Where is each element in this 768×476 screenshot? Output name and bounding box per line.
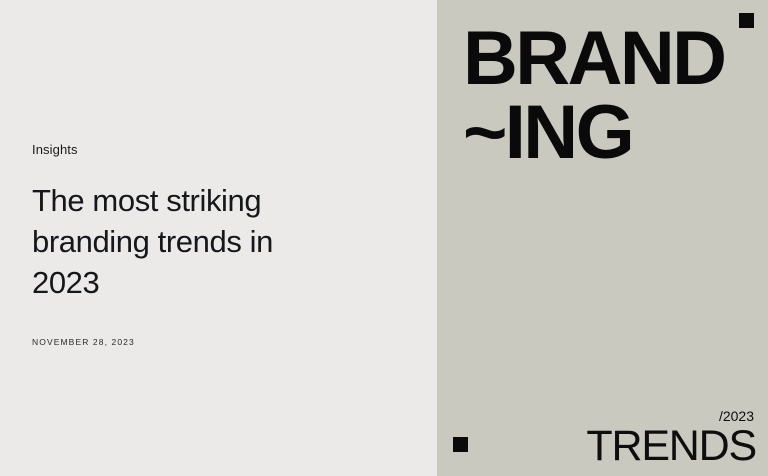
article-preview-page: Insights The most striking branding tren…	[0, 0, 768, 476]
article-date: NOVEMBER 28, 2023	[32, 336, 402, 348]
cover-wordmark: BRAND ~ING	[463, 22, 753, 170]
cover-wordmark-line-1: BRAND	[463, 22, 753, 96]
square-mark-icon	[453, 437, 468, 452]
cover-artwork-panel: BRAND ~ING /2023 TRENDS	[437, 0, 768, 476]
article-text-panel: Insights The most striking branding tren…	[0, 0, 437, 476]
cover-wordmark-line-2: ~ING	[463, 96, 753, 170]
article-summary-block: Insights The most striking branding tren…	[32, 142, 402, 348]
cover-footer-block: /2023 TRENDS	[586, 408, 756, 469]
page-title[interactable]: The most striking branding trends in 202…	[32, 180, 332, 303]
article-category-label[interactable]: Insights	[32, 142, 402, 158]
cover-title-label: TRENDS	[586, 424, 756, 469]
